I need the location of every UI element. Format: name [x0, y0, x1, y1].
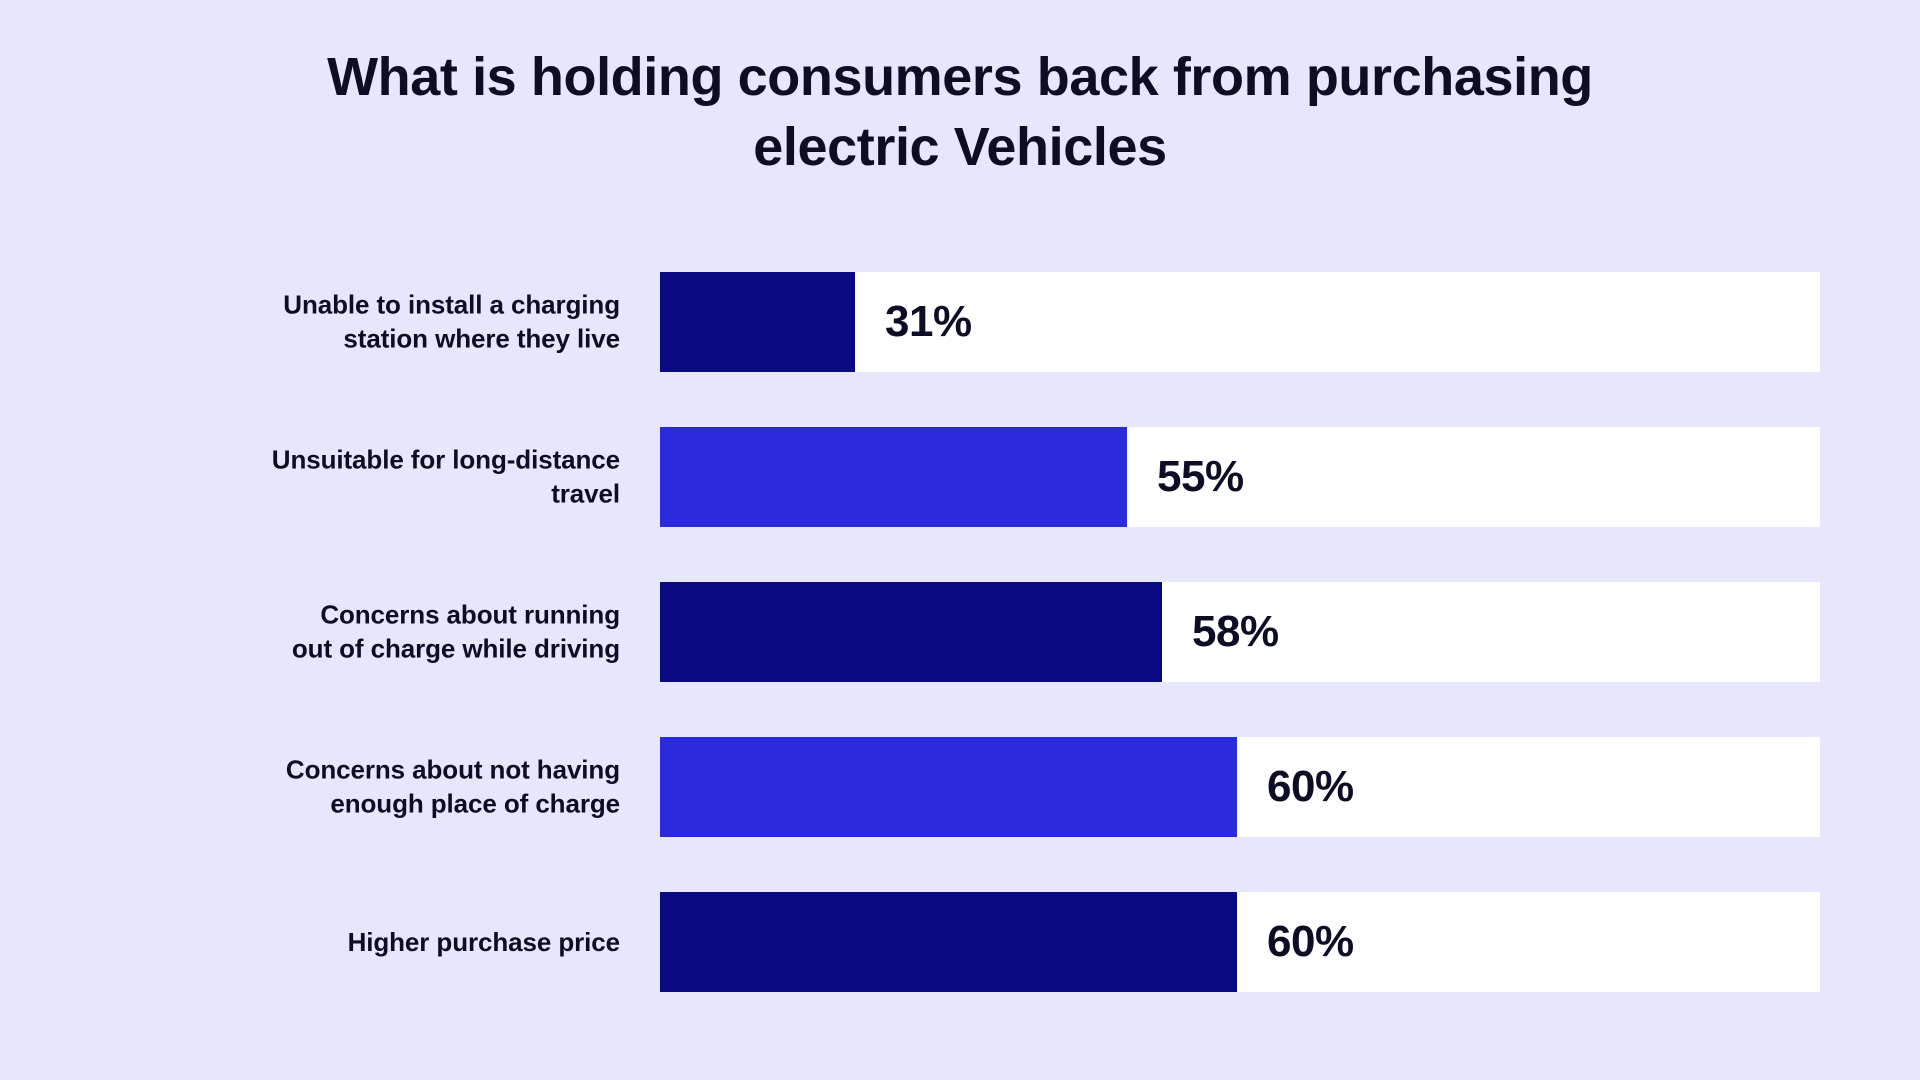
bar-track: 55% [660, 427, 1820, 527]
bar-row-label: Higher purchase price [80, 925, 620, 959]
bar-track: 60% [660, 737, 1820, 837]
bar-row-label: Concerns about not having enough place o… [80, 753, 620, 822]
bar-row: Concerns about running out of charge whi… [0, 582, 1920, 682]
bar-fill [660, 892, 1237, 992]
bar-row: Unsuitable for long-distance travel 55% [0, 427, 1920, 527]
bar-value-label: 60% [1267, 762, 1354, 812]
bar-fill [660, 737, 1237, 837]
bar-value-label: 31% [885, 297, 972, 347]
bar-track: 31% [660, 272, 1820, 372]
bar-fill [660, 582, 1162, 682]
bar-row-label: Unable to install a charging station whe… [80, 288, 620, 357]
chart-title: What is holding consumers back from purc… [0, 42, 1920, 182]
bar-fill [660, 272, 855, 372]
bar-value-label: 60% [1267, 917, 1354, 967]
bar-row: Concerns about not having enough place o… [0, 737, 1920, 837]
bar-chart-plot-area: Unable to install a charging station whe… [0, 272, 1920, 992]
bar-value-label: 55% [1157, 452, 1244, 502]
chart-canvas: What is holding consumers back from purc… [0, 0, 1920, 1080]
bar-row-label: Unsuitable for long-distance travel [80, 443, 620, 512]
bar-track: 58% [660, 582, 1820, 682]
bar-row: Unable to install a charging station whe… [0, 272, 1920, 372]
bar-value-label: 58% [1192, 607, 1279, 657]
bar-row-label: Concerns about running out of charge whi… [80, 598, 620, 667]
bar-fill [660, 427, 1127, 527]
bar-track: 60% [660, 892, 1820, 992]
bar-row: Higher purchase price 60% [0, 892, 1920, 992]
